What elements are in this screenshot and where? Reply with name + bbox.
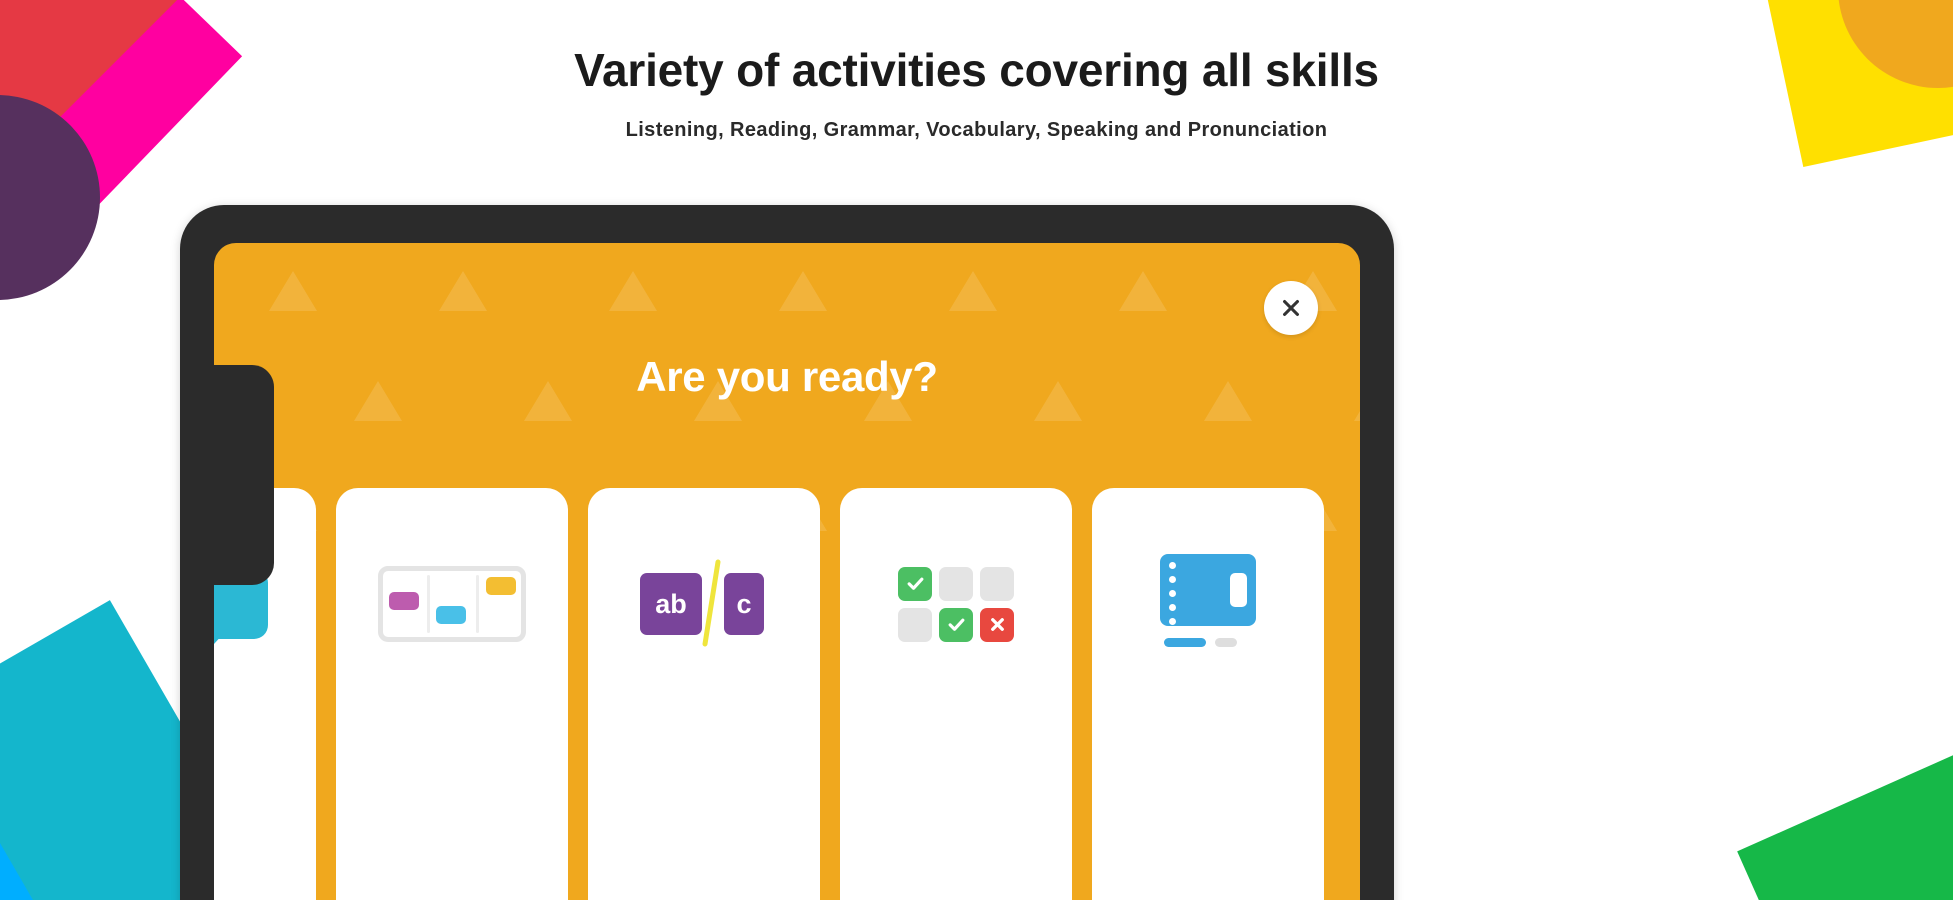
- page-title: Variety of activities covering all skill…: [0, 44, 1953, 97]
- page-header: Variety of activities covering all skill…: [0, 44, 1953, 142]
- word-split-abc-icon: ab c: [640, 556, 768, 652]
- check-icon: [898, 567, 932, 601]
- drag-drop-board-icon: [378, 556, 526, 652]
- deco-shape-blue-square: [0, 825, 85, 900]
- empty-tile: [939, 567, 973, 601]
- tablet-screen: Are you ready? /10: [214, 243, 1360, 900]
- activity-card[interactable]: 0/: [1092, 488, 1324, 900]
- flashcard-notebook-icon: [1160, 556, 1256, 652]
- deco-shape-green-square: [1737, 717, 1953, 900]
- check-cross-grid-icon: [898, 556, 1014, 652]
- modal-title: Are you ready?: [214, 353, 1360, 401]
- activity-card[interactable]: 0/10: [336, 488, 568, 900]
- abc-tile-right: c: [724, 573, 764, 635]
- empty-tile: [980, 567, 1014, 601]
- cross-icon: [980, 608, 1014, 642]
- activity-cards-strip: /10 0/10 ab: [214, 488, 1360, 900]
- close-icon: [1280, 297, 1302, 319]
- yellow-slash-icon: [702, 559, 721, 647]
- abc-tile-left: ab: [640, 573, 702, 635]
- check-icon: [939, 608, 973, 642]
- empty-tile: [898, 608, 932, 642]
- page-subtitle: Listening, Reading, Grammar, Vocabulary,…: [0, 119, 1953, 142]
- tablet-device-frame: Are you ready? /10: [180, 205, 1394, 900]
- activity-card[interactable]: 0/8: [840, 488, 1072, 900]
- activity-card[interactable]: ab c 0/10: [588, 488, 820, 900]
- close-button[interactable]: [1264, 281, 1318, 335]
- tablet-bezel-notch: [214, 365, 274, 585]
